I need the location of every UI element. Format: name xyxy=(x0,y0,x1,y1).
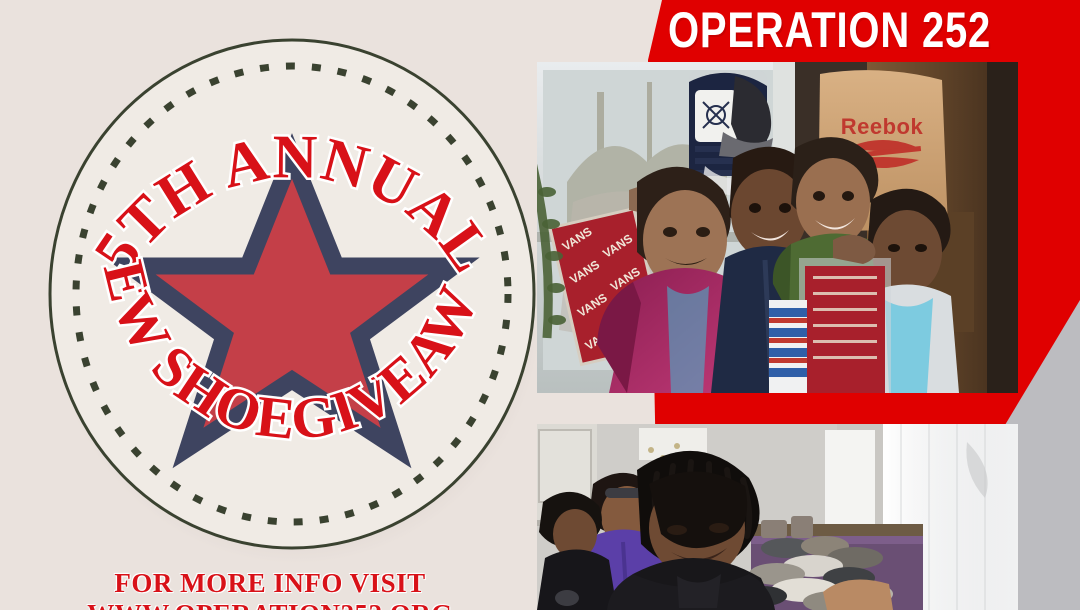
photo-volunteers-sorting-shoes xyxy=(537,424,1018,610)
caption-line-1: FOR MORE INFO VISIT xyxy=(114,568,425,598)
svg-text:Reebok: Reebok xyxy=(841,114,924,139)
poster-canvas: OPERATION 252 xyxy=(0,0,1080,610)
info-caption: FOR MORE INFO VISIT WWW.OPERATION252.ORG xyxy=(0,568,540,610)
page-title: OPERATION 252 xyxy=(668,4,991,56)
photo-children-with-shoeboxes: Reebok xyxy=(537,62,1018,393)
event-seal-badge: 5TH ANNUAL NEW SHOEGIVEAWAY xyxy=(44,28,544,558)
caption-line-2: WWW.OPERATION252.ORG xyxy=(0,599,540,610)
